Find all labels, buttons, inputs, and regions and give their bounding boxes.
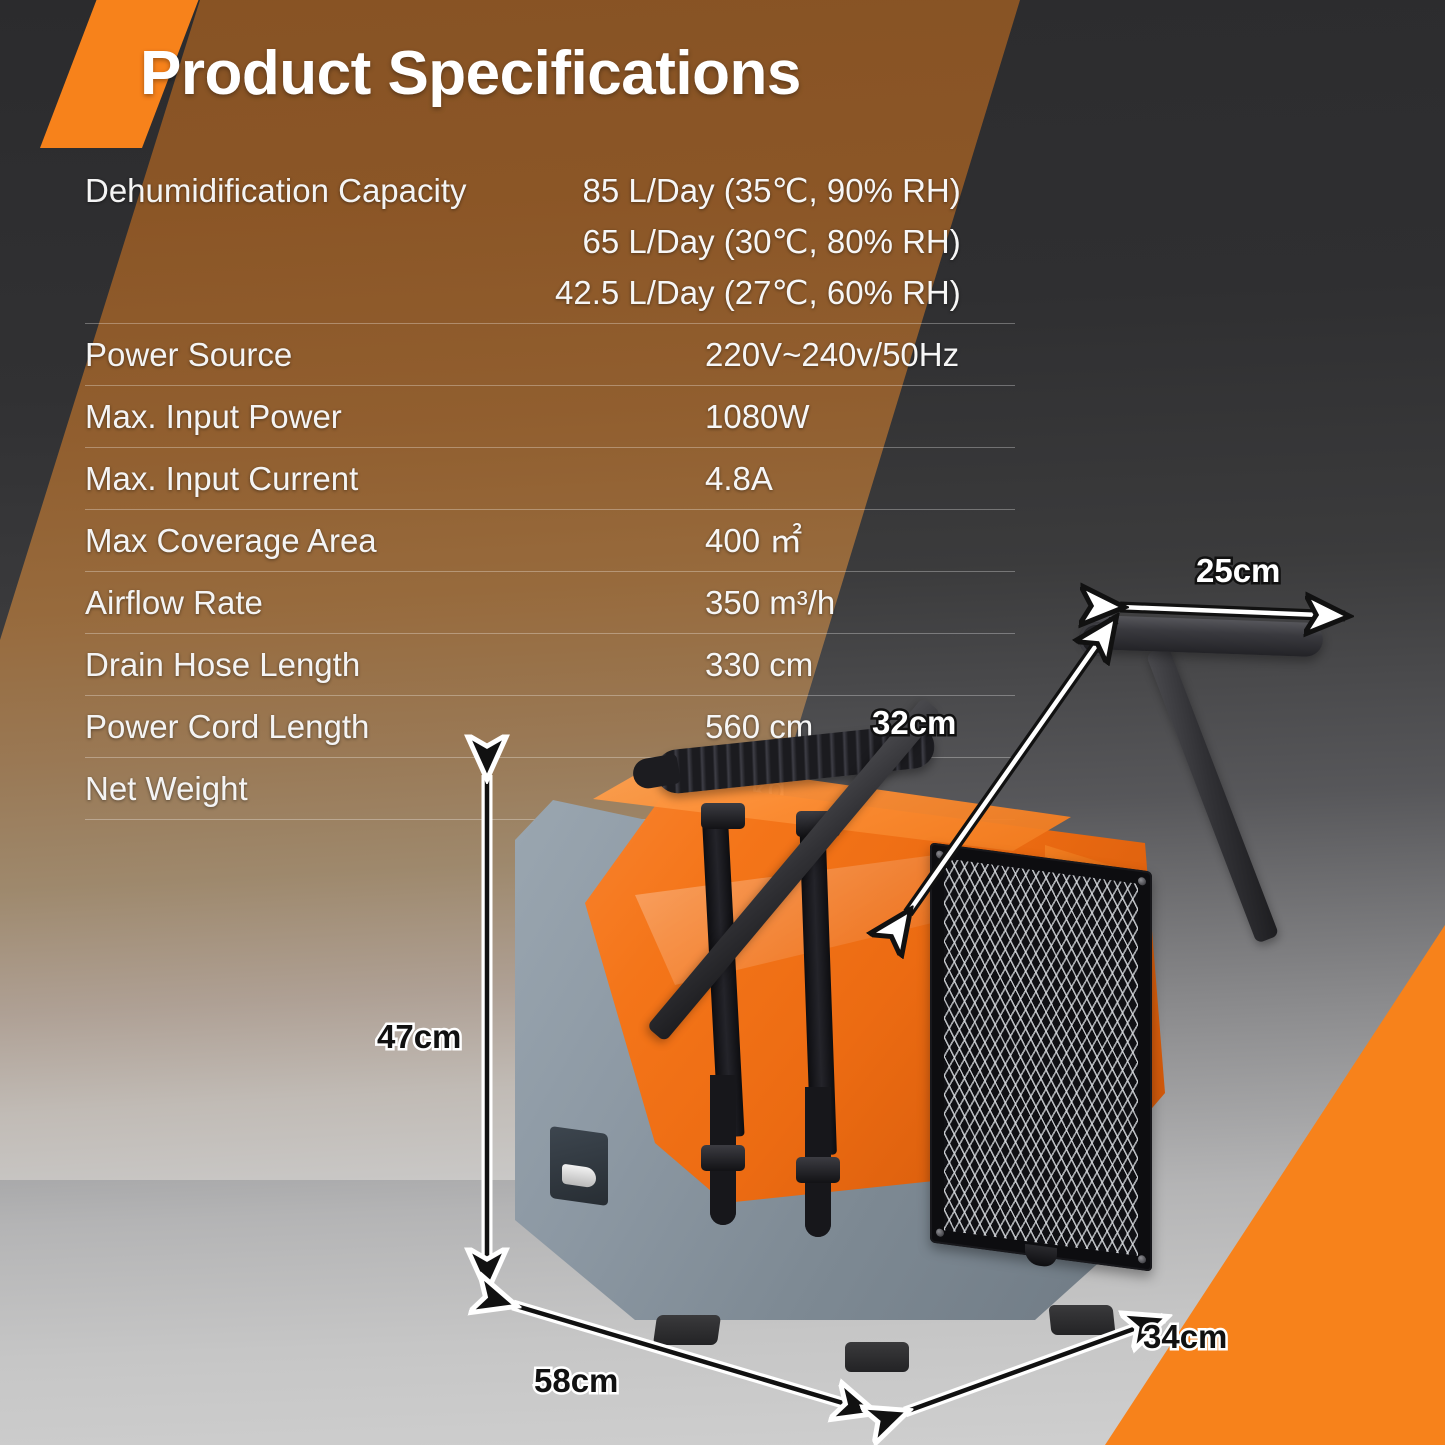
spec-label: Dehumidification Capacity: [85, 165, 555, 216]
grille-screw: [1138, 1255, 1146, 1264]
handle-grip-bar: [1082, 615, 1323, 657]
dim-label-depth: 34cm: [1143, 1318, 1227, 1356]
spec-value: 42.5 L/Day (27℃, 60% RH): [555, 267, 961, 318]
rubber-foot: [653, 1315, 721, 1345]
dim-label-width: 58cm: [534, 1362, 618, 1400]
table-row: Max. Input Current 4.8A: [85, 448, 1015, 510]
spec-value-group: 1080W: [555, 391, 1015, 442]
drain-port: [550, 1126, 608, 1206]
spec-value-group: 330 cm: [555, 639, 1015, 690]
table-row: Airflow Rate 350 m³/h: [85, 572, 1015, 634]
spec-value-group: 4.8A: [555, 453, 1015, 504]
spec-value: 65 L/Day (30℃, 80% RH): [583, 216, 961, 267]
mesh-air-grille: [930, 842, 1152, 1271]
spec-label: Max. Input Current: [85, 453, 555, 504]
spec-label: Max Coverage Area: [85, 515, 555, 566]
spec-label: Airflow Rate: [85, 577, 555, 628]
spec-value: 400 ㎡: [705, 515, 802, 566]
spec-label: Net Weight: [85, 763, 555, 814]
spec-label: Drain Hose Length: [85, 639, 555, 690]
table-row: Dehumidification Capacity 85 L/Day (35℃,…: [85, 160, 1015, 324]
spec-value: 330 cm: [705, 639, 813, 690]
spec-label: Power Source: [85, 329, 555, 380]
spec-label: Max. Input Power: [85, 391, 555, 442]
product-illustration: [505, 745, 1205, 1365]
table-row: Power Source 220V~240v/50Hz: [85, 324, 1015, 386]
spec-value: 1080W: [705, 391, 810, 442]
spec-value: 4.8A: [705, 453, 773, 504]
grille-screw: [936, 1228, 944, 1237]
dim-label-handle-extension: 32cm: [872, 704, 956, 742]
grille-screw: [936, 850, 944, 859]
dim-arrow-handle-bar: [1120, 607, 1345, 616]
table-row: Drain Hose Length 330 cm: [85, 634, 1015, 696]
telescoping-handle-arm-right: [1146, 646, 1280, 944]
grille-screw: [1138, 877, 1146, 886]
spec-value-group: 400 ㎡: [555, 515, 1015, 566]
spec-value: 85 L/Day (35℃, 90% RH): [583, 165, 961, 216]
strap-buckle: [796, 1157, 840, 1183]
strap-buckle: [701, 803, 745, 829]
drain-nozzle: [562, 1164, 596, 1189]
handle-pivot-screw: [1079, 622, 1113, 656]
rubber-foot: [1048, 1305, 1115, 1335]
spec-value: 350 m³/h: [705, 577, 835, 628]
infographic-canvas: Product Specifications Dehumidification …: [0, 0, 1445, 1445]
rubber-foot: [845, 1342, 909, 1372]
dim-label-handle-bar: 25cm: [1196, 552, 1280, 590]
table-row: Max Coverage Area 400 ㎡: [85, 510, 1015, 572]
spec-value-group: 350 m³/h: [555, 577, 1015, 628]
spec-value: 220V~240v/50Hz: [705, 329, 959, 380]
dim-label-height: 47cm: [377, 1018, 461, 1056]
grille-mesh-pattern: [944, 858, 1138, 1256]
table-row: Max. Input Power 1080W: [85, 386, 1015, 448]
spec-label: Power Cord Length: [85, 701, 555, 752]
page-title: Product Specifications: [140, 38, 801, 109]
spec-value-group: 220V~240v/50Hz: [555, 329, 1015, 380]
spec-value-group: 85 L/Day (35℃, 90% RH) 65 L/Day (30℃, 80…: [555, 165, 1039, 318]
strap-buckle: [701, 1145, 745, 1171]
